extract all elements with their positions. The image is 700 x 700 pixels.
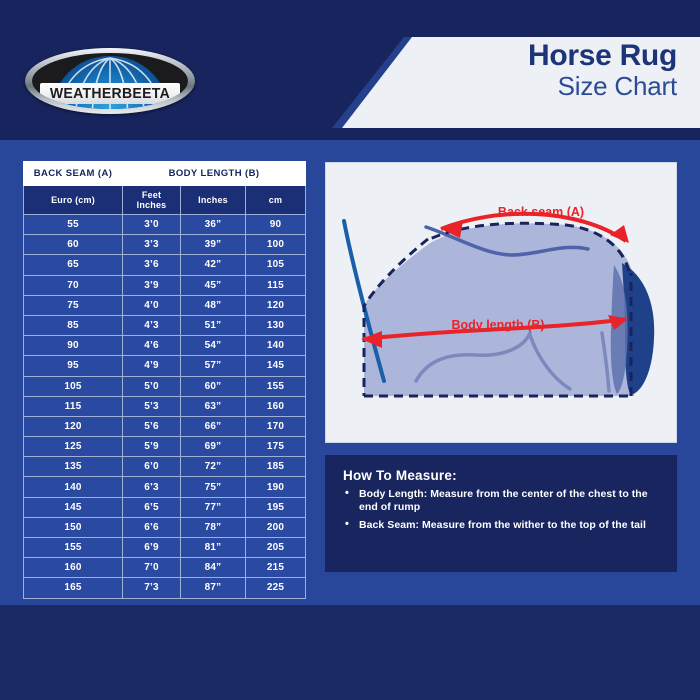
table-cell-col4: 195 — [246, 497, 306, 517]
table-cell-col2: 6’6 — [123, 517, 181, 537]
table-row: 1055’060”155 — [24, 376, 306, 396]
table-cell-col3: 84” — [181, 558, 246, 578]
table-cell-col3: 87” — [181, 578, 246, 598]
table-row: 904’654”140 — [24, 336, 306, 356]
table-row: 1657’387”225 — [24, 578, 306, 598]
column-header-euro-cm: Euro (cm) — [24, 186, 123, 215]
table-cell-col1: 70 — [24, 275, 123, 295]
table-cell-col3: 72” — [181, 457, 246, 477]
table-cell-col4: 145 — [246, 356, 306, 376]
table-row: 854’351”130 — [24, 315, 306, 335]
weatherbeeta-logo: WEATHERBEETA — [25, 48, 195, 114]
page-title-block: Horse Rug Size Chart — [528, 40, 677, 101]
table-cell-col2: 5’3 — [123, 396, 181, 416]
table-cell-col1: 95 — [24, 356, 123, 376]
table-cell-col2: 4’6 — [123, 336, 181, 356]
size-table-wrap: BACK SEAM (A) BODY LENGTH (B) Euro (cm) … — [23, 161, 305, 599]
size-table: BACK SEAM (A) BODY LENGTH (B) Euro (cm) … — [23, 161, 306, 599]
table-cell-col4: 200 — [246, 517, 306, 537]
table-cell-col1: 135 — [24, 457, 123, 477]
table-cell-col4: 155 — [246, 376, 306, 396]
table-cell-col2: 7’0 — [123, 558, 181, 578]
table-cell-col1: 85 — [24, 315, 123, 335]
table-cell-col1: 60 — [24, 235, 123, 255]
table-cell-col4: 185 — [246, 457, 306, 477]
table-row: 954’957”145 — [24, 356, 306, 376]
table-cell-col3: 78” — [181, 517, 246, 537]
table-cell-col1: 120 — [24, 416, 123, 436]
group-header-body-length: BODY LENGTH (B) — [123, 162, 306, 186]
table-cell-col3: 69” — [181, 437, 246, 457]
table-row: 653’642”105 — [24, 255, 306, 275]
table-cell-col3: 77” — [181, 497, 246, 517]
table-cell-col1: 115 — [24, 396, 123, 416]
table-cell-col4: 215 — [246, 558, 306, 578]
table-cell-col2: 3’3 — [123, 235, 181, 255]
logo-nameplate: WEATHERBEETA — [40, 83, 180, 104]
table-cell-col3: 45” — [181, 275, 246, 295]
table-row: 1255’969”175 — [24, 437, 306, 457]
table-cell-col1: 150 — [24, 517, 123, 537]
footer-band — [0, 605, 700, 700]
column-header-inches: Inches — [181, 186, 246, 215]
table-row: 1506’678”200 — [24, 517, 306, 537]
table-cell-col2: 6’0 — [123, 457, 181, 477]
table-cell-col1: 155 — [24, 538, 123, 558]
column-header-feet-inches: FeetInches — [123, 186, 181, 215]
table-cell-col2: 3’6 — [123, 255, 181, 275]
table-cell-col2: 5’0 — [123, 376, 181, 396]
table-cell-col3: 39” — [181, 235, 246, 255]
table-cell-col2: 4’0 — [123, 295, 181, 315]
how-to-measure-item: Body Length: Measure from the center of … — [343, 488, 661, 514]
table-row: 1607’084”215 — [24, 558, 306, 578]
table-cell-col3: 66” — [181, 416, 246, 436]
table-cell-col4: 225 — [246, 578, 306, 598]
horse-measurement-diagram: Back seam (A) Body length (B) — [325, 162, 677, 443]
body-length-label: Body length (B) — [451, 318, 544, 332]
table-cell-col4: 140 — [246, 336, 306, 356]
table-cell-col1: 140 — [24, 477, 123, 497]
table-cell-col4: 160 — [246, 396, 306, 416]
table-cell-col4: 105 — [246, 255, 306, 275]
table-row: 553’036”90 — [24, 215, 306, 235]
page-title: Horse Rug — [528, 40, 677, 71]
table-cell-col3: 60” — [181, 376, 246, 396]
table-cell-col2: 6’5 — [123, 497, 181, 517]
table-cell-col3: 48” — [181, 295, 246, 315]
table-cell-col4: 120 — [246, 295, 306, 315]
group-header-back-seam: BACK SEAM (A) — [24, 162, 123, 186]
table-row: 1155’363”160 — [24, 396, 306, 416]
table-cell-col4: 170 — [246, 416, 306, 436]
table-cell-col2: 5’9 — [123, 437, 181, 457]
table-row: 1205’666”170 — [24, 416, 306, 436]
table-cell-col4: 130 — [246, 315, 306, 335]
table-group-header-row: BACK SEAM (A) BODY LENGTH (B) — [24, 162, 306, 186]
table-cell-col4: 115 — [246, 275, 306, 295]
table-row: 703’945”115 — [24, 275, 306, 295]
table-row: 1556’981”205 — [24, 538, 306, 558]
page-subtitle: Size Chart — [528, 72, 677, 101]
table-cell-col1: 65 — [24, 255, 123, 275]
size-table-body: 553’036”90603’339”100653’642”105703’945”… — [24, 215, 306, 599]
table-cell-col3: 54” — [181, 336, 246, 356]
table-cell-col2: 7’3 — [123, 578, 181, 598]
table-cell-col2: 3’0 — [123, 215, 181, 235]
table-cell-col3: 63” — [181, 396, 246, 416]
how-to-measure-heading: How To Measure: — [343, 468, 661, 483]
table-cell-col4: 90 — [246, 215, 306, 235]
table-cell-col3: 51” — [181, 315, 246, 335]
back-seam-label: Back seam (A) — [498, 205, 584, 219]
table-cell-col4: 100 — [246, 235, 306, 255]
table-cell-col4: 175 — [246, 437, 306, 457]
size-chart-page: WEATHERBEETA Horse Rug Size Chart BACK S… — [0, 0, 700, 700]
table-cell-col2: 6’9 — [123, 538, 181, 558]
table-cell-col1: 105 — [24, 376, 123, 396]
table-cell-col3: 81” — [181, 538, 246, 558]
table-cell-col2: 4’3 — [123, 315, 181, 335]
how-to-measure-list: Body Length: Measure from the center of … — [343, 488, 661, 531]
table-cell-col1: 90 — [24, 336, 123, 356]
logo-wordmark: WEATHERBEETA — [50, 86, 170, 102]
table-cell-col3: 57” — [181, 356, 246, 376]
table-cell-col2: 4’9 — [123, 356, 181, 376]
table-cell-col4: 205 — [246, 538, 306, 558]
how-to-measure-item: Back Seam: Measure from the wither to th… — [343, 519, 661, 532]
table-cell-col1: 145 — [24, 497, 123, 517]
table-cell-col1: 160 — [24, 558, 123, 578]
table-cell-col2: 3’9 — [123, 275, 181, 295]
table-cell-col1: 165 — [24, 578, 123, 598]
table-cell-col2: 6’3 — [123, 477, 181, 497]
table-cell-col3: 36” — [181, 215, 246, 235]
how-to-measure-panel: How To Measure: Body Length: Measure fro… — [325, 455, 677, 572]
table-cell-col4: 190 — [246, 477, 306, 497]
table-row: 1456’577”195 — [24, 497, 306, 517]
table-row: 1356’072”185 — [24, 457, 306, 477]
table-row: 754’048”120 — [24, 295, 306, 315]
logo-inner-face: WEATHERBEETA — [32, 53, 188, 109]
table-cell-col2: 5’6 — [123, 416, 181, 436]
table-cell-col1: 55 — [24, 215, 123, 235]
table-cell-col3: 75” — [181, 477, 246, 497]
table-column-header-row: Euro (cm) FeetInches Inches cm — [24, 186, 306, 215]
table-cell-col1: 75 — [24, 295, 123, 315]
column-header-cm: cm — [246, 186, 306, 215]
table-row: 1406’375”190 — [24, 477, 306, 497]
table-row: 603’339”100 — [24, 235, 306, 255]
table-cell-col1: 125 — [24, 437, 123, 457]
table-cell-col3: 42” — [181, 255, 246, 275]
